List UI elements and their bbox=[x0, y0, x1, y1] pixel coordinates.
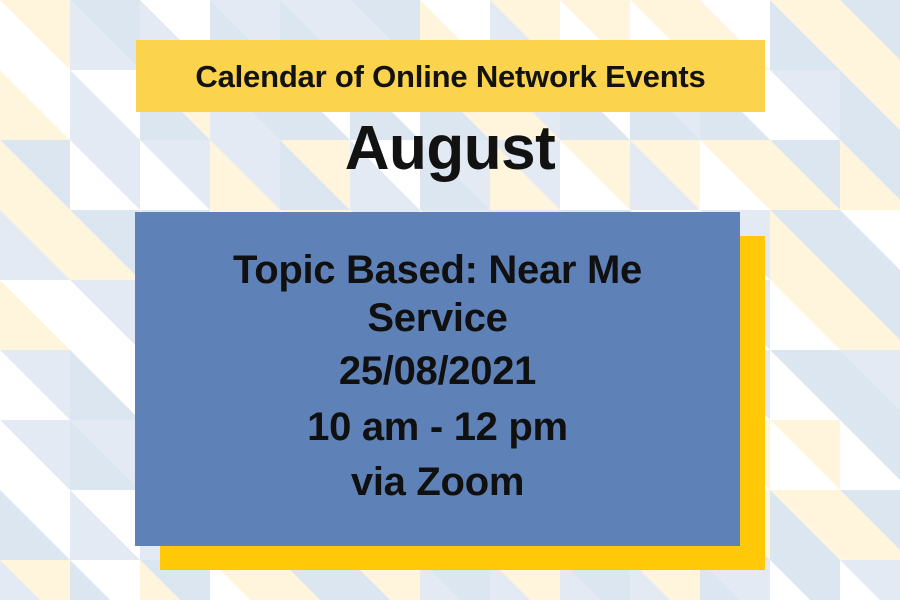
event-date: 25/08/2021 bbox=[157, 349, 718, 395]
title-banner: Calendar of Online Network Events bbox=[136, 40, 765, 112]
event-time: 10 am - 12 pm bbox=[157, 405, 718, 451]
event-topic-line-1: Topic Based: Near Me bbox=[157, 248, 718, 294]
event-card: Topic Based: Near Me Service 25/08/2021 … bbox=[135, 212, 740, 546]
poster-canvas: Calendar of Online Network Events August… bbox=[0, 0, 900, 600]
month-heading: August bbox=[0, 116, 900, 181]
event-venue: via Zoom bbox=[157, 460, 718, 506]
poster-title: Calendar of Online Network Events bbox=[195, 61, 705, 92]
event-topic-line-2: Service bbox=[157, 296, 718, 342]
